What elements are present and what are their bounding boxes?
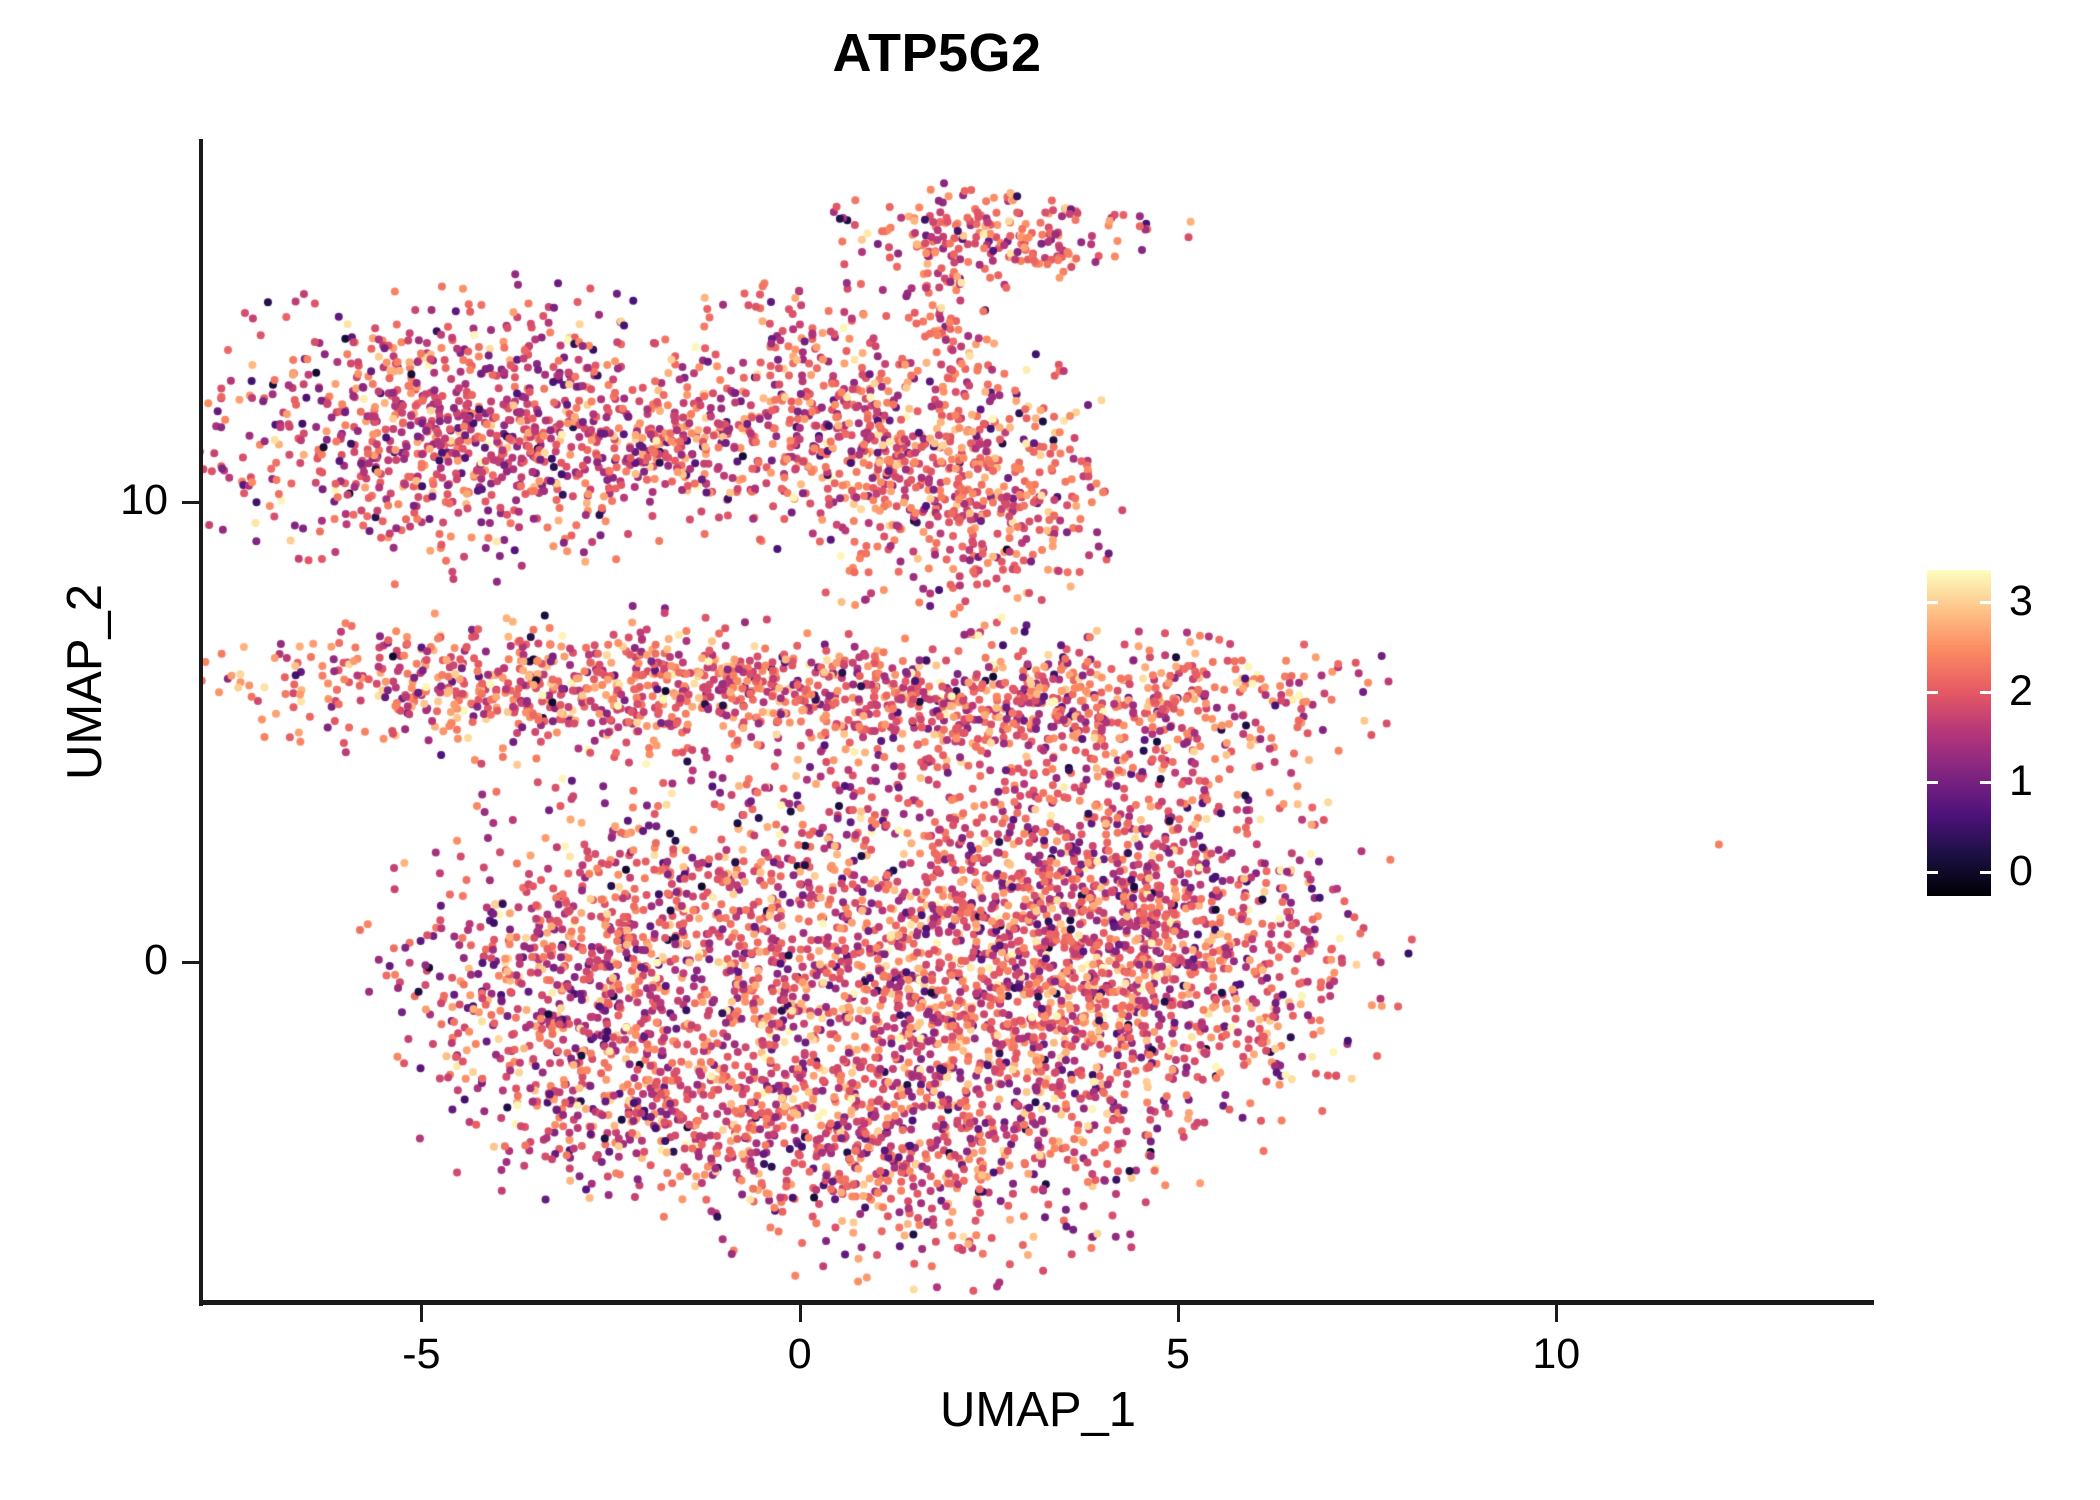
- x-tick: [420, 1305, 423, 1322]
- x-axis-label: UMAP_1: [202, 1382, 1874, 1438]
- y-axis-line: [199, 139, 203, 1306]
- colorbar-tick: [1980, 691, 1991, 694]
- x-tick: [1555, 1305, 1558, 1322]
- x-tick-label: 5: [1098, 1330, 1258, 1379]
- colorbar-tick: [1980, 601, 1991, 604]
- x-tick-label: 0: [720, 1330, 880, 1379]
- colorbar-gradient: [1927, 570, 1991, 896]
- colorbar-tick-label: 2: [2009, 670, 2033, 713]
- scatter-points-layer: [202, 139, 1874, 1302]
- x-tick-label: -5: [341, 1330, 501, 1379]
- colorbar-tick: [1980, 871, 1991, 874]
- colorbar-tick-label: 0: [2009, 850, 2033, 893]
- y-tick-label: 10: [120, 476, 168, 525]
- y-axis-label: UMAP_2: [57, 282, 113, 1082]
- y-tick: [182, 501, 199, 504]
- y-tick-label: 0: [144, 936, 168, 985]
- colorbar-tick: [1927, 691, 1938, 694]
- colorbar-tick: [1927, 601, 1938, 604]
- colorbar-tick-label: 1: [2009, 760, 2033, 803]
- x-tick: [799, 1305, 802, 1322]
- y-tick: [182, 961, 199, 964]
- x-axis-line: [199, 1300, 1874, 1305]
- colorbar-tick: [1980, 781, 1991, 784]
- umap-feature-plot: ATP5G2 -50510 010 UMAP_1 UMAP_2 0123: [0, 0, 2100, 1500]
- colorbar-tick-label: 3: [2009, 580, 2033, 623]
- plot-panel: [202, 139, 1874, 1302]
- x-tick: [1177, 1305, 1180, 1322]
- x-tick-label: 10: [1476, 1330, 1636, 1379]
- colorbar-tick: [1927, 871, 1938, 874]
- page-title: ATP5G2: [0, 22, 1874, 84]
- colorbar-tick: [1927, 781, 1938, 784]
